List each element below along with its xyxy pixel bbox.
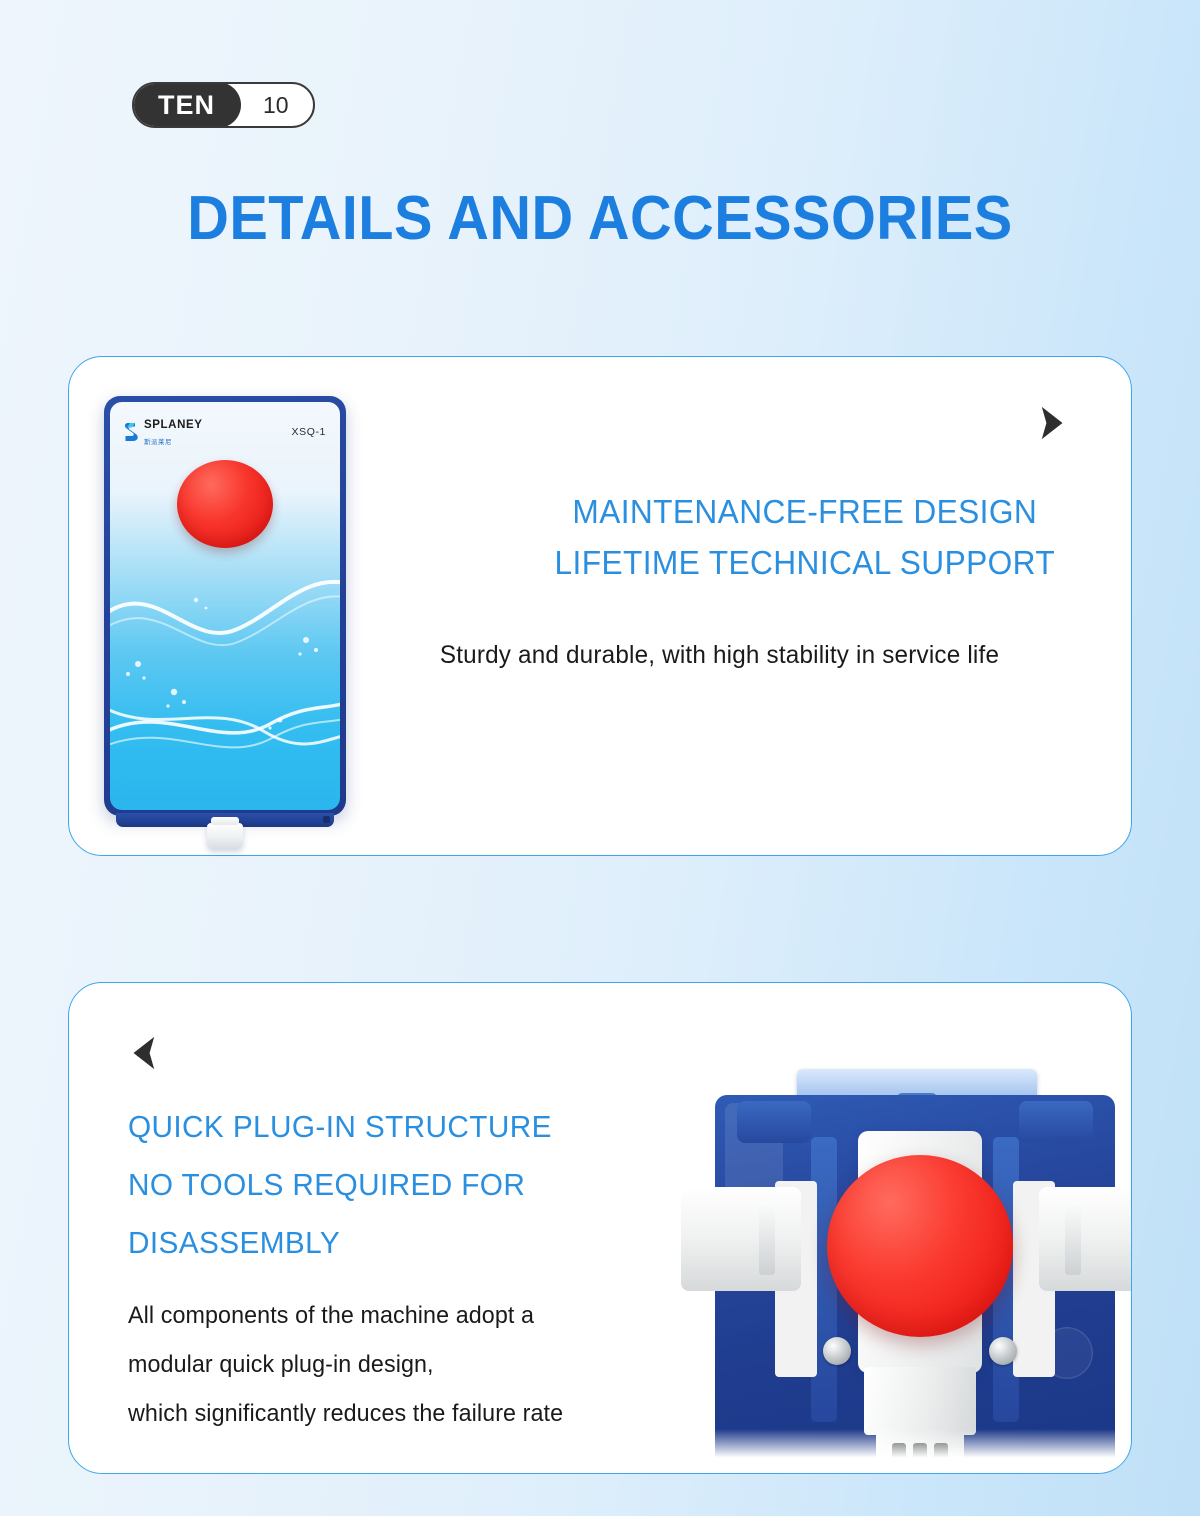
device-faceplate: SPLANEY 斯派莱尼 XSQ-1 <box>110 402 340 810</box>
valve-ear-left <box>737 1101 811 1143</box>
valve-screw-left <box>823 1337 851 1365</box>
card-2-body-line-2: modular quick plug-in design, <box>128 1340 729 1389</box>
device-model-label: XSQ-1 <box>291 426 326 438</box>
brand-logo: SPLANEY 斯派莱尼 <box>124 416 203 448</box>
device-brand-row: SPLANEY 斯派莱尼 XSQ-1 <box>124 416 326 448</box>
chevron-left-icon <box>122 1030 168 1076</box>
card-1-body: Sturdy and durable, with high stability … <box>380 641 1059 670</box>
chevron-right-icon <box>1028 400 1074 446</box>
card-2-heading-line-2: NO TOOLS REQUIRED FOR <box>128 1156 627 1214</box>
card-1-heading-line-1: MAINTENANCE-FREE DESIGN <box>536 486 1074 537</box>
brand-name-cn: 斯派莱尼 <box>144 439 172 446</box>
valve-neck <box>864 1367 976 1435</box>
card-1-body-line-1: Sturdy and durable, with high stability … <box>380 641 1059 670</box>
valve-red-cap <box>827 1155 1013 1337</box>
badge-word: TEN <box>132 82 241 128</box>
valve-ear-right <box>1019 1101 1093 1143</box>
valve-fitting-left <box>681 1187 801 1291</box>
brand-name: SPLANEY <box>144 419 203 431</box>
valve-screw-right <box>989 1337 1017 1365</box>
splaney-s-mark-icon <box>124 422 139 442</box>
page-root: TEN 10 DETAILS AND ACCESSORIES <box>0 0 1200 1516</box>
device-housing: SPLANEY 斯派莱尼 XSQ-1 <box>104 396 346 816</box>
card-2-body: All components of the machine adopt a mo… <box>128 1291 729 1438</box>
valve-fitting-right <box>1039 1187 1132 1291</box>
card-2-body-line-3: which significantly reduces the failure … <box>128 1389 729 1438</box>
card-2-heading-line-1: QUICK PLUG-IN STRUCTURE <box>128 1098 627 1156</box>
device-screw <box>323 816 330 823</box>
page-title: DETAILS AND ACCESSORIES <box>42 183 1158 254</box>
brand-text-block: SPLANEY 斯派莱尼 <box>144 416 203 448</box>
card-2-heading: QUICK PLUG-IN STRUCTURE NO TOOLS REQUIRE… <box>128 1098 627 1272</box>
badge-number: 10 <box>241 84 313 126</box>
card-1-heading-line-2: LIFETIME TECHNICAL SUPPORT <box>536 537 1074 588</box>
section-badge: TEN 10 <box>132 82 315 128</box>
product-image-controller: SPLANEY 斯派莱尼 XSQ-1 <box>104 396 346 816</box>
device-red-button <box>177 460 273 548</box>
card-1-heading: MAINTENANCE-FREE DESIGN LIFETIME TECHNIC… <box>536 486 1074 588</box>
valve-assembly <box>705 1069 1132 1474</box>
device-outlet-nozzle <box>207 823 243 849</box>
card-2-body-line-1: All components of the machine adopt a <box>128 1291 729 1340</box>
card-2-heading-line-3: DISASSEMBLY <box>128 1214 627 1272</box>
